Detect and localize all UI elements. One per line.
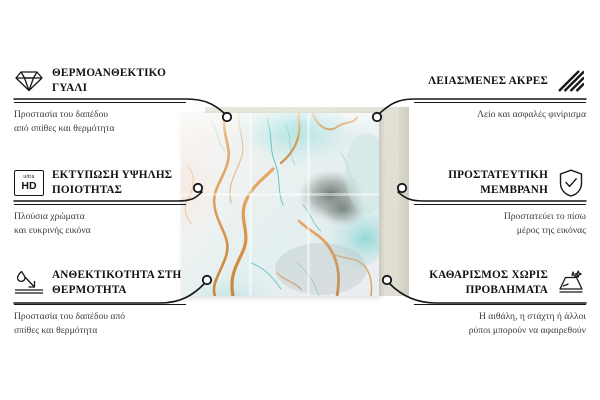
feature-header: ΘΕΡΜΟΑΝΘΕΚΤΙΚΟ ΓΥΑΛΙ — [14, 64, 186, 98]
marble-artwork — [181, 113, 379, 296]
feature-title: ΘΕΡΜΟΑΝΘΕΚΤΙΚΟ ΓΥΑΛΙ — [52, 66, 186, 96]
feature-description: Λείο και ασφαλές φινίρισμα — [414, 108, 586, 122]
feature-divider — [414, 204, 586, 205]
feature-title: ΠΡΟΣΤΑΤΕΥΤΙΚΗ ΜΕΜΒΡΑΝΗ — [414, 168, 548, 198]
feature-title: ΛΕΙΑΣΜΕΝΕΣ ΑΚΡΕΣ — [428, 74, 548, 89]
glass-reflection-mullion-left — [249, 113, 252, 296]
feature-title: ΕΚΤΥΠΩΣΗ ΥΨΗΛΗΣ ΠΟΙΟΤΗΤΑΣ — [52, 168, 186, 198]
ultra-hd-icon-top-label: ultra — [23, 175, 34, 180]
feature-divider — [14, 204, 186, 205]
feature-divider — [14, 102, 186, 103]
feature-title: ΚΑΘΑΡΙΣΜΟΣ ΧΩΡΙΣ ΠΡΟΒΛΗΜΑΤΑ — [414, 268, 548, 298]
feature-header: ΠΡΟΣΤΑΤΕΥΤΙΚΗ ΜΕΜΒΡΑΝΗ — [414, 166, 586, 200]
feature-header: ΛΕΙΑΣΜΕΝΕΣ ΑΚΡΕΣ — [414, 64, 586, 98]
feature-description-line1: Προστασία του δαπέδου από — [14, 310, 186, 324]
feature-description-line2: σπίθες και θερμότητα — [14, 324, 186, 338]
glass-reflection-mullion-horizontal — [181, 193, 379, 196]
feature-description-line1: Πλούσια χρώματα — [14, 210, 186, 224]
feature-description-line2: και ευκρινής εικόνα — [14, 224, 186, 238]
feature-protective-membrane: ΠΡΟΣΤΑΤΕΥΤΙΚΗ ΜΕΜΒΡΑΝΗ Προστατεύει το πί… — [414, 166, 586, 237]
sparkle-clean-icon — [556, 268, 586, 298]
product-glass-panel — [181, 113, 379, 296]
feature-heat-durability: ΑΝΘΕΚΤΙΚΟΤΗΤΑ ΣΤΗ ΘΕΡΜΟΤΗΤΑ Προστασία το… — [14, 266, 186, 337]
feature-description-line1: Προστασία του δαπέδου — [14, 108, 186, 122]
ultra-hd-icon: ultra HD — [14, 168, 44, 198]
feature-divider — [14, 304, 186, 305]
product-image — [181, 107, 409, 296]
infographic-canvas: ΘΕΡΜΟΑΝΘΕΚΤΙΚΟ ΓΥΑΛΙ Προστασία του δαπέδ… — [0, 0, 600, 400]
hatched-edge-icon — [556, 66, 586, 96]
feature-description: Προστασία του δαπέδου από σπίθες και θερ… — [14, 310, 186, 337]
feature-high-quality-print: ultra HD ΕΚΤΥΠΩΣΗ ΥΨΗΛΗΣ ΠΟΙΟΤΗΤΑΣ Πλούσ… — [14, 166, 186, 237]
feature-divider — [414, 304, 586, 305]
feature-title: ΑΝΘΕΚΤΙΚΟΤΗΤΑ ΣΤΗ ΘΕΡΜΟΤΗΤΑ — [52, 268, 186, 298]
shield-check-icon — [556, 168, 586, 198]
ultra-hd-icon-main-label: HD — [21, 181, 36, 192]
feature-description-line2: ρύποι μπορούν να αφαιρεθούν — [414, 324, 586, 338]
feature-divider — [414, 102, 586, 103]
feature-header: ultra HD ΕΚΤΥΠΩΣΗ ΥΨΗΛΗΣ ΠΟΙΟΤΗΤΑΣ — [14, 166, 186, 200]
feature-description-line2: από σπίθες και θερμότητα — [14, 122, 186, 136]
flame-layers-icon — [14, 268, 44, 298]
glass-reflection-mullion-right — [307, 113, 310, 296]
feature-description: Πλούσια χρώματα και ευκρινής εικόνα — [14, 210, 186, 237]
feature-description: Η αιθάλη, η στάχτη ή άλλοι ρύποι μπορούν… — [414, 310, 586, 337]
product-backboard-edge — [399, 107, 409, 296]
feature-trouble-free-cleaning: ΚΑΘΑΡΙΣΜΟΣ ΧΩΡΙΣ ΠΡΟΒΛΗΜΑΤΑ Η αιθάλη, η … — [414, 266, 586, 337]
feature-description-line2: μέρος της εικόνας — [414, 224, 586, 238]
feature-smooth-edges: ΛΕΙΑΣΜΕΝΕΣ ΑΚΡΕΣ Λείο και ασφαλές φινίρι… — [414, 64, 586, 122]
feature-description: Προστασία του δαπέδου από σπίθες και θερ… — [14, 108, 186, 135]
diamond-icon — [14, 66, 44, 96]
feature-description-line1: Προστατεύει το πίσω — [414, 210, 586, 224]
feature-heat-resistant-glass: ΘΕΡΜΟΑΝΘΕΚΤΙΚΟ ΓΥΑΛΙ Προστασία του δαπέδ… — [14, 64, 186, 135]
feature-description: Προστατεύει το πίσω μέρος της εικόνας — [414, 210, 586, 237]
feature-description-line1: Η αιθάλη, η στάχτη ή άλλοι — [414, 310, 586, 324]
feature-header: ΚΑΘΑΡΙΣΜΟΣ ΧΩΡΙΣ ΠΡΟΒΛΗΜΑΤΑ — [414, 266, 586, 300]
feature-description-line1: Λείο και ασφαλές φινίρισμα — [414, 108, 586, 122]
feature-header: ΑΝΘΕΚΤΙΚΟΤΗΤΑ ΣΤΗ ΘΕΡΜΟΤΗΤΑ — [14, 266, 186, 300]
